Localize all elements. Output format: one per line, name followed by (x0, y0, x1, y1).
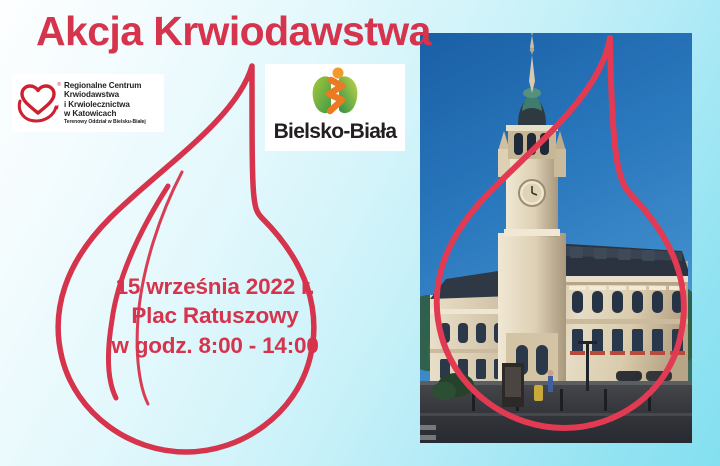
rckik-line-2: Krwiodawstwa (64, 90, 146, 100)
heart-swoosh-icon: ® (14, 79, 62, 127)
town-hall-photo (420, 33, 692, 443)
rckik-line-1: Regionalne Centrum (64, 81, 146, 91)
registered-mark: ® (57, 82, 61, 88)
bielsko-biala-emblem-icon (304, 67, 366, 119)
rckik-subtitle: Terenowy Oddział w Bielsku-Białej (64, 119, 146, 125)
city-logo: Bielsko-Biała (265, 64, 405, 151)
rckik-line-3: i Krwiolecznictwa (64, 100, 146, 110)
poster-canvas: Akcja Krwiodawstwa ® Regionalne Centrum … (0, 0, 720, 466)
poster-title: Akcja Krwiodawstwa (36, 11, 431, 52)
rckik-logo-text: Regionalne Centrum Krwiodawstwa i Krwiol… (64, 81, 146, 126)
rckik-logo: ® Regionalne Centrum Krwiodawstwa i Krwi… (12, 74, 164, 132)
event-hours: w godz. 8:00 - 14:00 (98, 331, 332, 360)
rckik-line-4: w Katowicach (64, 109, 146, 119)
city-logo-label: Bielsko-Biała (274, 120, 397, 144)
event-details: 15 września 2022 r. Plac Ratuszowy w god… (98, 272, 332, 360)
event-place: Plac Ratuszowy (98, 301, 332, 330)
event-date: 15 września 2022 r. (98, 272, 332, 301)
